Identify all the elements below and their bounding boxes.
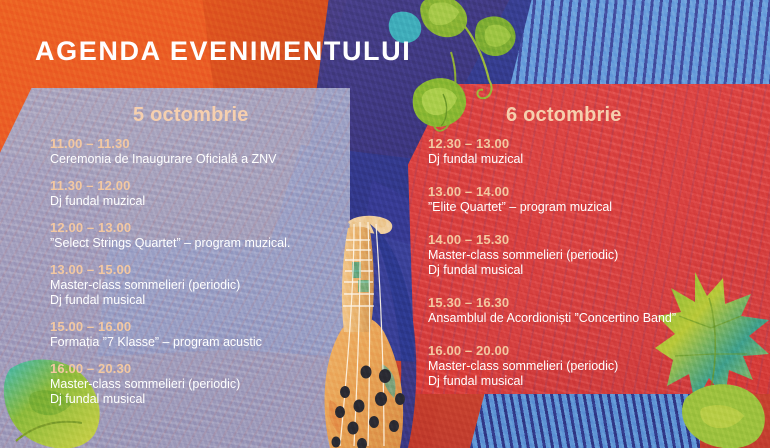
slot-description: ”Select Strings Quartet” – program muzic…: [50, 236, 340, 251]
slot-time: 13.00 – 15.00: [50, 262, 340, 278]
schedule-item: 12.30 – 13.00 Dj fundal muzical: [428, 136, 758, 167]
slot-description: Master-class sommelieri (periodic) Dj fu…: [50, 278, 340, 308]
slot-description: Ansamblul de Acordioniști ”Concertino Ba…: [428, 311, 758, 326]
page-title: AGENDA EVENIMENTULUI: [35, 36, 411, 67]
slot-description: Dj fundal muzical: [50, 194, 340, 209]
slot-description: Master-class sommelieri (periodic) Dj fu…: [50, 377, 340, 407]
schedule-item: 11.30 – 12.00 Dj fundal muzical: [50, 178, 340, 209]
slot-description: Master-class sommelieri (periodic) Dj fu…: [428, 359, 758, 389]
schedule-item: 14.00 – 15.30 Master-class sommelieri (p…: [428, 232, 758, 278]
schedule-item: 15.00 – 16.00 Formația ”7 Klasse” – prog…: [50, 319, 340, 350]
slot-time: 16.00 – 20.30: [50, 361, 340, 377]
schedule-item: 15.30 – 16.30 Ansamblul de Acordioniști …: [428, 295, 758, 326]
slot-description: Dj fundal muzical: [428, 152, 758, 167]
schedule-item: 13.00 – 15.00 Master-class sommelieri (p…: [50, 262, 340, 308]
slot-time: 11.00 – 11.30: [50, 136, 340, 152]
schedule-list-day1: 11.00 – 11.30 Ceremonia de Inaugurare Of…: [50, 136, 340, 418]
slot-time: 15.00 – 16.00: [50, 319, 340, 335]
slot-description: Formația ”7 Klasse” – program acustic: [50, 335, 340, 350]
event-agenda-poster: AGENDA EVENIMENTULUI 5 octombrie 6 octom…: [0, 0, 770, 448]
day-heading-left: 5 octombrie: [133, 104, 249, 127]
slot-description: ”Elite Quartet” – program muzical: [428, 200, 758, 215]
schedule-list-day2: 12.30 – 13.00 Dj fundal muzical 13.00 – …: [428, 136, 758, 406]
schedule-item: 12.00 – 13.00 ”Select Strings Quartet” –…: [50, 220, 340, 251]
schedule-item: 16.00 – 20.30 Master-class sommelieri (p…: [50, 361, 340, 407]
slot-time: 15.30 – 16.30: [428, 295, 758, 311]
slot-description: Master-class sommelieri (periodic) Dj fu…: [428, 248, 758, 278]
slot-time: 14.00 – 15.30: [428, 232, 758, 248]
slot-time: 16.00 – 20.00: [428, 343, 758, 359]
slot-time: 12.30 – 13.00: [428, 136, 758, 152]
slot-time: 12.00 – 13.00: [50, 220, 340, 236]
day-heading-right: 6 octombrie: [506, 104, 622, 127]
slot-time: 11.30 – 12.00: [50, 178, 340, 194]
slot-description: Ceremonia de Inaugurare Oficială a ZNV: [50, 152, 340, 167]
schedule-item: 11.00 – 11.30 Ceremonia de Inaugurare Of…: [50, 136, 340, 167]
slot-time: 13.00 – 14.00: [428, 184, 758, 200]
schedule-item: 16.00 – 20.00 Master-class sommelieri (p…: [428, 343, 758, 389]
schedule-item: 13.00 – 14.00 ”Elite Quartet” – program …: [428, 184, 758, 215]
